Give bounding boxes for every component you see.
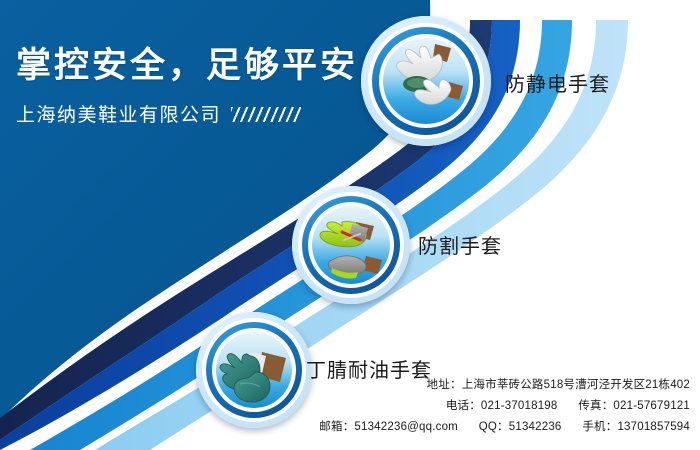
contact-fax: 传真：021-57679121 <box>578 400 690 412</box>
product-circle-nitrile-oil[interactable] <box>196 312 312 428</box>
contact-online-row: 邮箱：51342236@qq.com QQ：51342236 手机：137018… <box>319 417 690 438</box>
company-name: 上海纳美鞋业有限公司 <box>16 100 221 127</box>
promo-banner: 掌控安全，足够平安 上海纳美鞋业有限公司 <box>0 0 700 450</box>
contact-phone: 电话：021-37018198 <box>446 400 558 412</box>
contact-block: 地址：上海市莘砖公路518号漕河泾开发区21栋402 电话：021-370181… <box>319 375 690 438</box>
contact-address: 地址：上海市莘砖公路518号漕河泾开发区21栋402 <box>319 375 690 396</box>
diagonal-stripes-icon <box>231 107 301 122</box>
headline-text: 掌控安全，足够平安 <box>16 46 376 86</box>
contact-email: 邮箱：51342236@qq.com <box>319 421 458 433</box>
product-card-cut-resistant[interactable]: 防割手套 <box>292 186 410 304</box>
contact-phone-row: 电话：021-37018198 传真：021-57679121 <box>319 396 690 417</box>
headline-block: 掌控安全，足够平安 上海纳美鞋业有限公司 <box>16 46 376 127</box>
product-circle-antistatic[interactable] <box>361 16 491 146</box>
contact-mobile: 手机：13701857594 <box>582 421 690 433</box>
company-line: 上海纳美鞋业有限公司 <box>16 100 376 127</box>
green-nitrile-glove-icon <box>216 332 292 408</box>
product-card-antistatic[interactable]: 防静电手套 <box>361 16 491 146</box>
contact-qq: QQ：51342236 <box>479 421 562 433</box>
product-card-nitrile-oil[interactable]: 丁腈耐油手套 <box>196 312 312 428</box>
cut-resistant-glove-icon <box>312 206 390 284</box>
product-label-antistatic: 防静电手套 <box>505 68 610 97</box>
white-antistatic-glove-icon <box>383 38 469 124</box>
product-circle-cut-resistant[interactable] <box>292 186 410 304</box>
product-label-cut-resistant: 防割手套 <box>418 230 502 259</box>
